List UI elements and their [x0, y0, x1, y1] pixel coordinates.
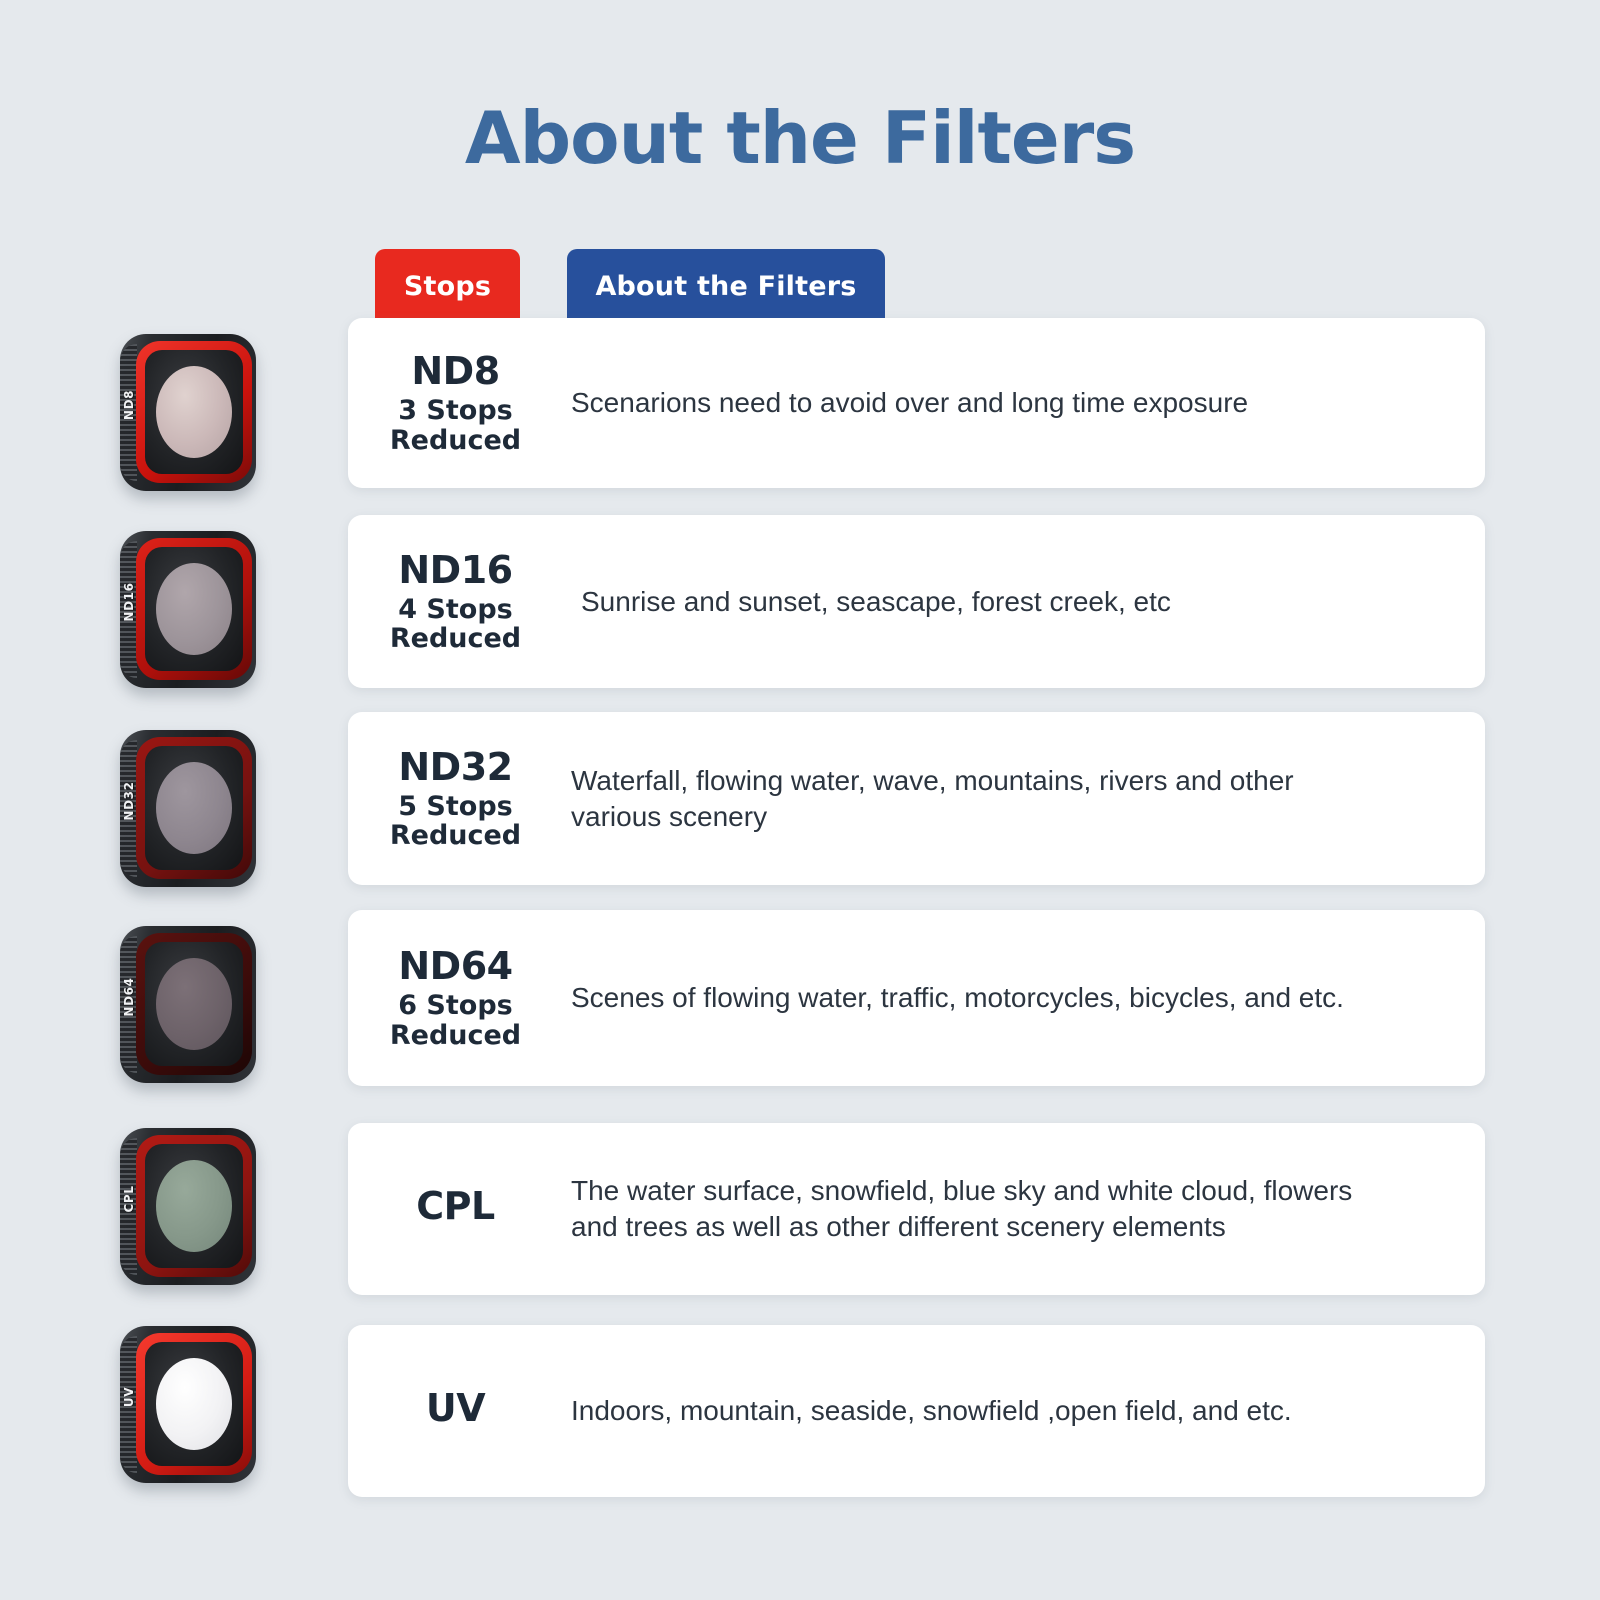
filter-lens	[156, 1358, 232, 1450]
filter-name: CPL	[348, 1186, 563, 1227]
description-cell: Scenarions need to avoid over and long t…	[563, 385, 1485, 421]
filter-lens	[156, 563, 232, 655]
filter-body	[120, 730, 256, 887]
filter-label: ND32	[122, 771, 136, 831]
description-cell: Sunrise and sunset, seascape, forest cre…	[563, 584, 1485, 620]
filter-label: CPL	[122, 1169, 136, 1229]
filter-ring	[136, 1135, 252, 1277]
filter-ring	[136, 933, 252, 1075]
filter-label: ND64	[122, 967, 136, 1027]
filter-body	[120, 531, 256, 688]
table-row: ND32 5 Stops Reduced Waterfall, flowing …	[348, 712, 1485, 885]
stops-cell: UV	[348, 1388, 563, 1433]
filter-image-nd8: ND8	[112, 330, 264, 495]
filter-image-nd32: ND32	[112, 726, 264, 891]
table-row: ND8 3 Stops Reduced Scenarions need to a…	[348, 318, 1485, 488]
filter-image-uv: UV	[112, 1322, 264, 1487]
filter-bezel	[145, 942, 243, 1066]
filter-name: ND32	[348, 747, 563, 788]
stops-cell: ND64 6 Stops Reduced	[348, 946, 563, 1049]
filter-name: UV	[348, 1388, 563, 1429]
filter-lens	[156, 762, 232, 854]
filter-lens	[156, 366, 232, 458]
filter-stops: 5 Stops Reduced	[348, 792, 563, 850]
description-cell: Indoors, mountain, seaside, snowfield ,o…	[563, 1393, 1485, 1429]
stops-cell: ND8 3 Stops Reduced	[348, 351, 563, 454]
table-row: ND64 6 Stops Reduced Scenes of flowing w…	[348, 910, 1485, 1086]
stops-cell: CPL	[348, 1186, 563, 1231]
tab-about-the-filters[interactable]: About the Filters	[567, 249, 885, 323]
filter-image-cpl: CPL	[112, 1124, 264, 1289]
filter-body	[120, 1128, 256, 1285]
tab-stops[interactable]: Stops	[375, 249, 520, 323]
filter-image-nd16: ND16	[112, 527, 264, 692]
filter-body	[120, 334, 256, 491]
filter-label: ND16	[122, 572, 136, 632]
filter-image-nd64: ND64	[112, 922, 264, 1087]
filter-stops: 6 Stops Reduced	[348, 991, 563, 1049]
description-cell: The water surface, snowfield, blue sky a…	[563, 1173, 1485, 1245]
filter-bezel	[145, 1342, 243, 1466]
filter-name: ND64	[348, 946, 563, 987]
filter-ring	[136, 1333, 252, 1475]
table-row: UV Indoors, mountain, seaside, snowfield…	[348, 1325, 1485, 1497]
filter-stops: 4 Stops Reduced	[348, 595, 563, 653]
filter-name: ND16	[348, 550, 563, 591]
table-row: CPL The water surface, snowfield, blue s…	[348, 1123, 1485, 1295]
filter-ring	[136, 538, 252, 680]
stops-cell: ND16 4 Stops Reduced	[348, 550, 563, 653]
table-header-tabs: Stops About the Filters	[375, 249, 885, 323]
filter-bezel	[145, 350, 243, 474]
description-cell: Scenes of flowing water, traffic, motorc…	[563, 980, 1485, 1016]
filter-label: ND8	[122, 375, 136, 435]
filter-body	[120, 1326, 256, 1483]
filter-stops: 3 Stops Reduced	[348, 396, 563, 454]
filter-body	[120, 926, 256, 1083]
table-row: ND16 4 Stops Reduced Sunrise and sunset,…	[348, 515, 1485, 688]
filter-ring	[136, 737, 252, 879]
filter-label: UV	[122, 1367, 136, 1427]
filter-lens	[156, 958, 232, 1050]
filter-name: ND8	[348, 351, 563, 392]
description-cell: Waterfall, flowing water, wave, mountain…	[563, 763, 1485, 835]
filter-bezel	[145, 746, 243, 870]
filter-ring	[136, 341, 252, 483]
filter-lens	[156, 1160, 232, 1252]
stops-cell: ND32 5 Stops Reduced	[348, 747, 563, 850]
filter-bezel	[145, 547, 243, 671]
page-title: About the Filters	[0, 96, 1600, 180]
filter-bezel	[145, 1144, 243, 1268]
